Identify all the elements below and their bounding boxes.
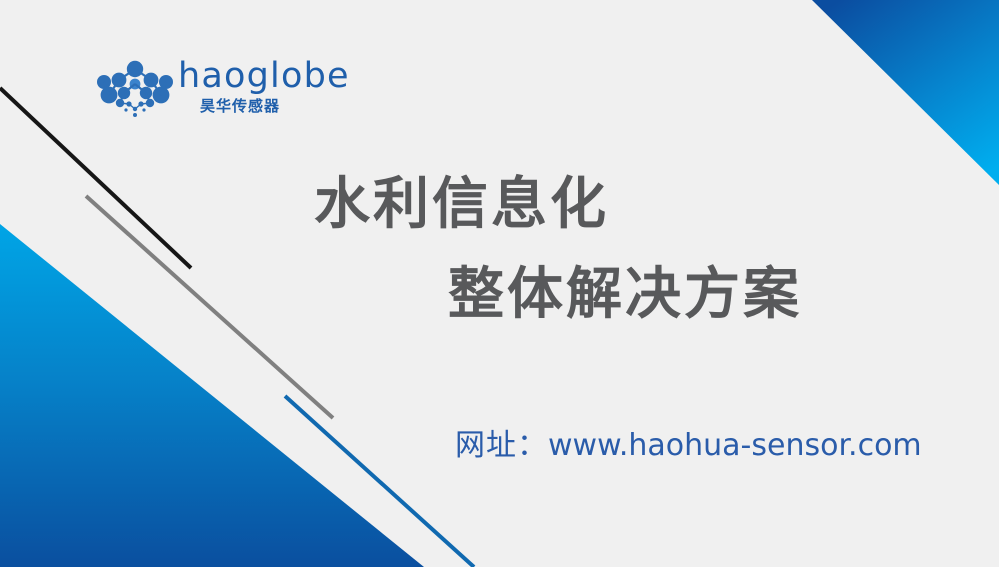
- logo-text: haoglobe 昊华传感器: [178, 57, 328, 119]
- website-label: 网址：: [455, 428, 548, 463]
- logo-chinese-name: 昊华传感器: [200, 95, 280, 116]
- title-line-1: 水利信息化: [300, 160, 920, 250]
- logo-wordmark: haoglobe: [178, 57, 350, 95]
- title-line-2: 整体解决方案: [300, 250, 920, 340]
- website-url[interactable]: www.haohua-sensor.com: [548, 428, 922, 463]
- slide-canvas: haoglobe 昊华传感器 水利信息化 整体解决方案 网址：www.haohu…: [0, 0, 999, 567]
- molecule-network-icon: [96, 60, 174, 118]
- brand-logo[interactable]: haoglobe 昊华传感器: [96, 57, 326, 127]
- page-title: 水利信息化 整体解决方案: [300, 160, 920, 340]
- website-line: 网址：www.haohua-sensor.com: [455, 420, 922, 464]
